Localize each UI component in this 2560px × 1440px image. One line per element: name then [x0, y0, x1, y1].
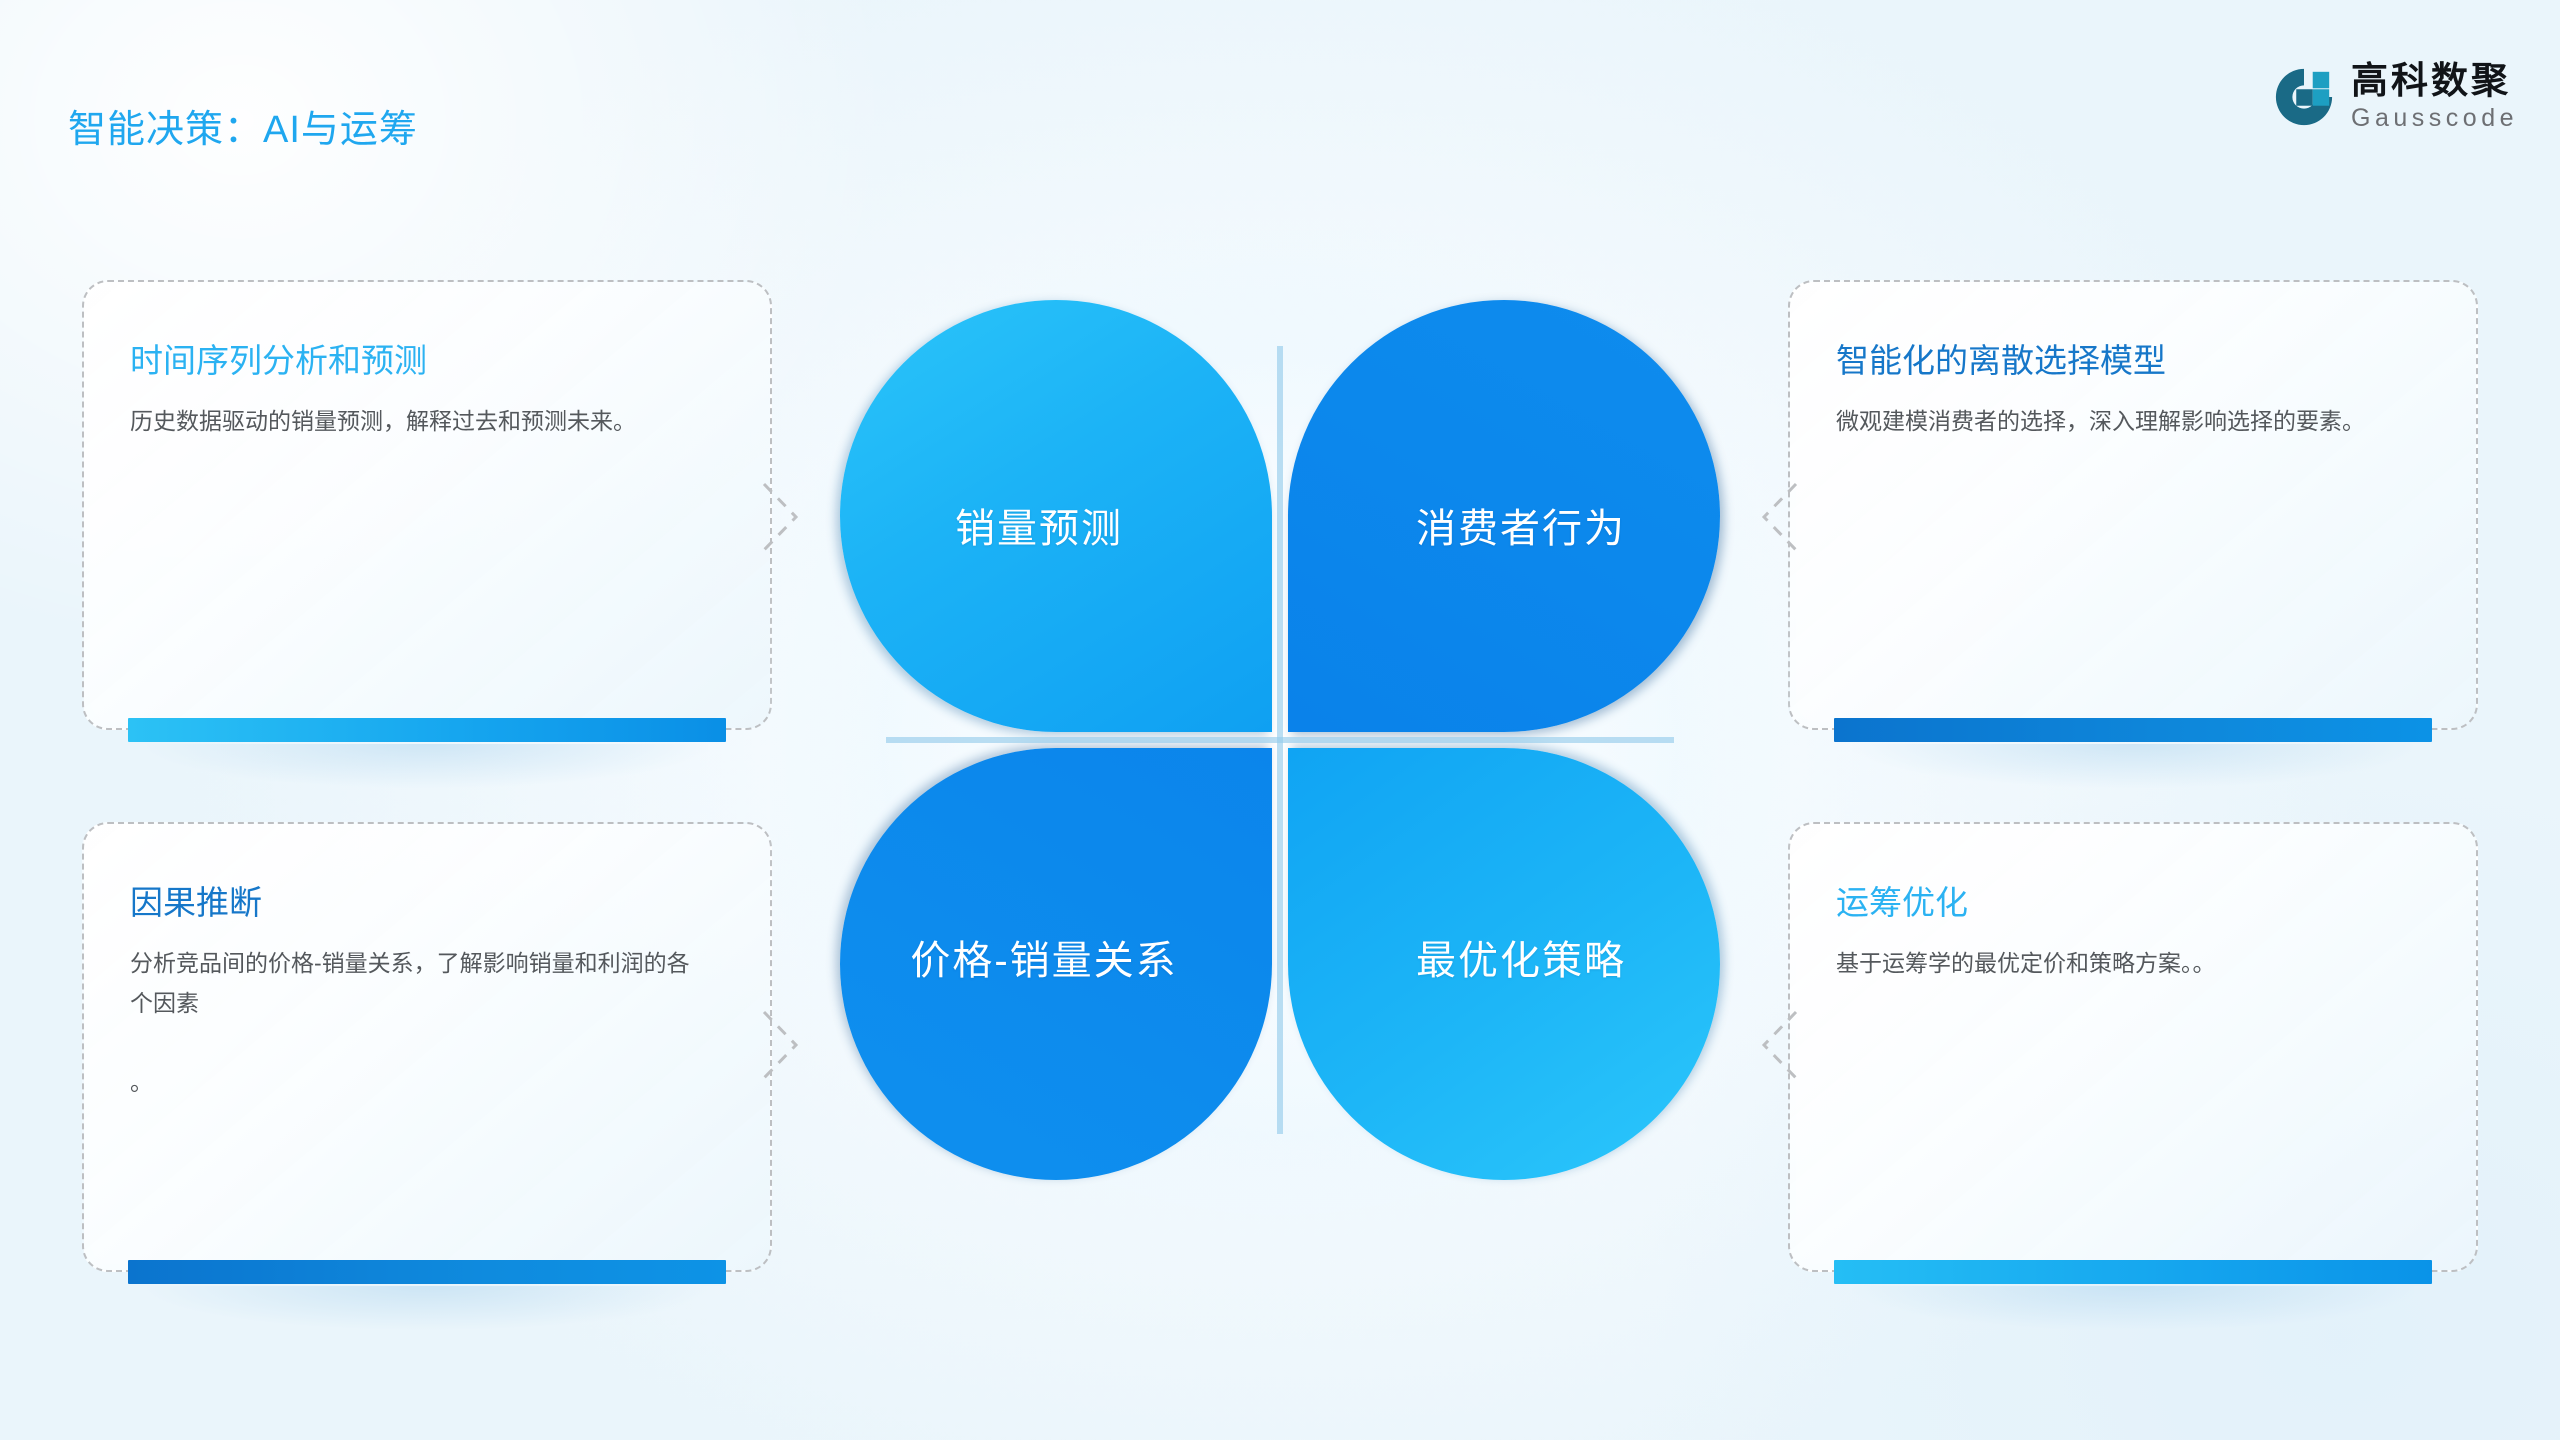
- card-body: 历史数据驱动的销量预测，解释过去和预测未来。: [130, 402, 710, 442]
- card-accent-bar: [1834, 718, 2432, 742]
- brand-logo: 高科数聚 Gausscode: [2273, 62, 2518, 131]
- petal-label: 销量预测: [955, 496, 1123, 554]
- page-title: 智能决策：AI与运筹: [68, 98, 418, 153]
- card-causal-inference[interactable]: 因果推断 分析竞品间的价格-销量关系，了解影响销量和利润的各个因素 。: [82, 822, 772, 1272]
- card-accent-bar: [128, 1260, 726, 1284]
- card-title: 时间序列分析和预测: [130, 334, 724, 382]
- card-body: 基于运筹学的最优定价和策略方案。。: [1836, 944, 2416, 984]
- card-time-series[interactable]: 时间序列分析和预测 历史数据驱动的销量预测，解释过去和预测未来。: [82, 280, 772, 730]
- card-title: 运筹优化: [1836, 876, 2430, 924]
- card-accent-bar: [128, 718, 726, 742]
- four-petal-diagram: 销量预测 消费者行为 价格-销量关系 最优化策略: [840, 300, 1720, 1180]
- card-title: 因果推断: [130, 876, 724, 924]
- connector-chevron-left-icon: [1758, 1008, 1800, 1082]
- connector-chevron-left-icon: [1758, 480, 1800, 554]
- petal-price-volume-relation[interactable]: 价格-销量关系: [840, 748, 1272, 1180]
- petal-seam-horizontal: [886, 737, 1674, 743]
- logo-text-cn: 高科数聚: [2351, 62, 2518, 99]
- petal-sales-forecast[interactable]: 销量预测: [840, 300, 1272, 732]
- card-accent-bar: [1834, 1260, 2432, 1284]
- card-operations-research[interactable]: 运筹优化 基于运筹学的最优定价和策略方案。。: [1788, 822, 2478, 1272]
- petal-consumer-behavior[interactable]: 消费者行为: [1288, 300, 1720, 732]
- card-title: 智能化的离散选择模型: [1836, 334, 2430, 382]
- petal-seam-vertical: [1277, 346, 1283, 1134]
- card-body: 微观建模消费者的选择，深入理解影响选择的要素。: [1836, 402, 2416, 442]
- card-discrete-choice[interactable]: 智能化的离散选择模型 微观建模消费者的选择，深入理解影响选择的要素。: [1788, 280, 2478, 730]
- petal-label: 价格-销量关系: [910, 928, 1177, 986]
- card-body: 分析竞品间的价格-销量关系，了解影响销量和利润的各个因素 。: [130, 944, 710, 1102]
- gausscode-logo-icon: [2273, 66, 2335, 128]
- connector-chevron-right-icon: [760, 1008, 802, 1082]
- petal-label: 消费者行为: [1416, 496, 1626, 554]
- petal-label: 最优化策略: [1416, 928, 1626, 986]
- petal-optimal-strategy[interactable]: 最优化策略: [1288, 748, 1720, 1180]
- connector-chevron-right-icon: [760, 480, 802, 554]
- logo-text-en: Gausscode: [2351, 106, 2518, 131]
